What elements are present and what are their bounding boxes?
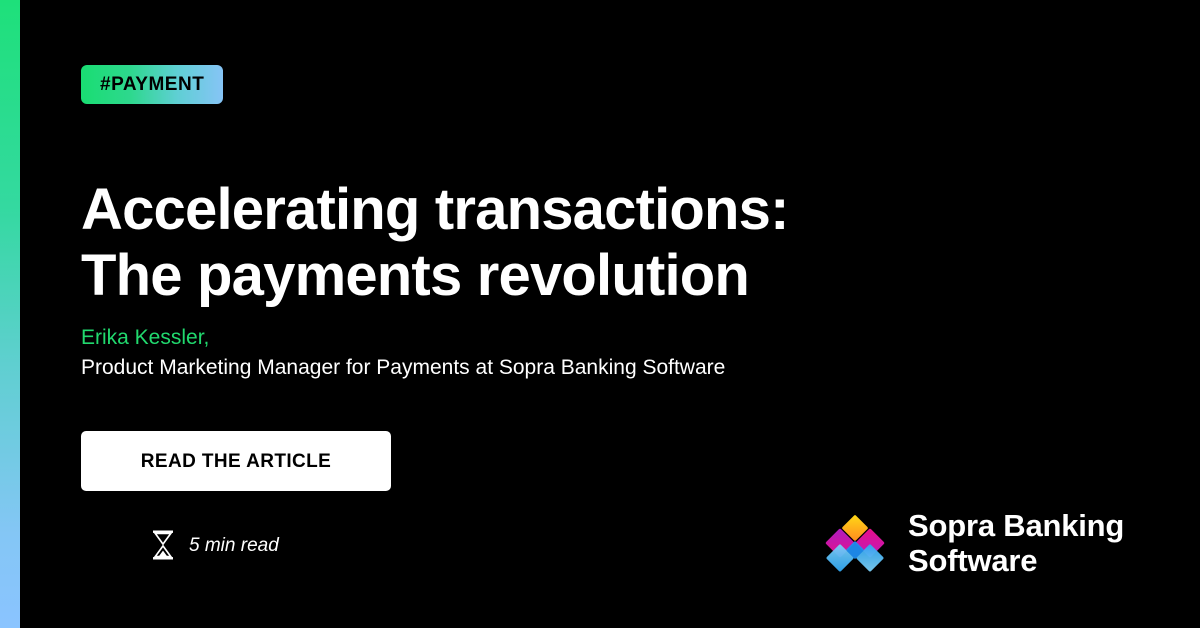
page-title: Accelerating transactions: The payments … xyxy=(81,177,1061,309)
brand-name-line-2: Software xyxy=(908,543,1124,578)
brand-name-line-1: Sopra Banking xyxy=(908,508,1124,543)
byline: Erika Kessler, Product Marketing Manager… xyxy=(81,323,1061,384)
hourglass-icon xyxy=(152,530,174,560)
read-the-article-button[interactable]: READ THE ARTICLE xyxy=(81,431,391,491)
page-title-line-2: The payments revolution xyxy=(81,243,1061,309)
promo-card: #PAYMENT Accelerating transactions: The … xyxy=(0,0,1200,628)
category-badge-label: #PAYMENT xyxy=(100,75,204,94)
read-the-article-label: READ THE ARTICLE xyxy=(141,452,331,471)
sopra-banking-software-logo-mark-icon xyxy=(820,510,890,576)
read-time: 5 min read xyxy=(152,530,279,560)
category-badge[interactable]: #PAYMENT xyxy=(81,65,223,104)
byline-author-role: Product Marketing Manager for Payments a… xyxy=(81,353,1061,383)
page-title-line-1: Accelerating transactions: xyxy=(81,177,1061,243)
left-gradient-stripe xyxy=(0,0,20,628)
byline-author-name: Erika Kessler, xyxy=(81,323,1061,353)
read-time-label: 5 min read xyxy=(189,536,279,555)
brand-logo: Sopra Banking Software xyxy=(820,508,1124,578)
brand-name: Sopra Banking Software xyxy=(908,508,1124,578)
